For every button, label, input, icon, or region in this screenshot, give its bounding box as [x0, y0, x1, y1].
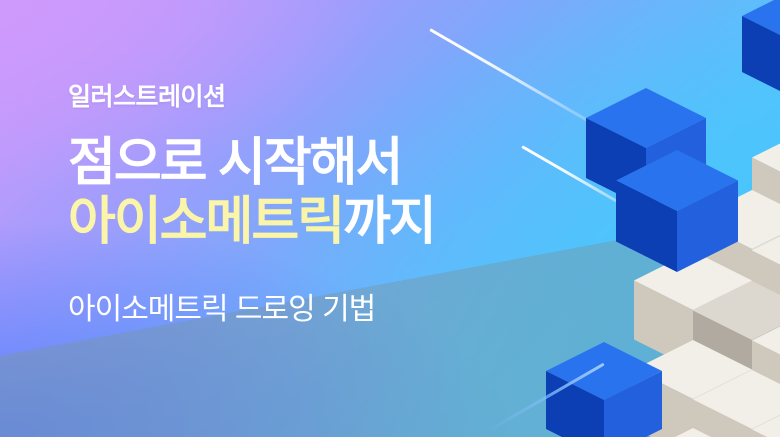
- headline-line-1: 점으로 시작해서: [68, 134, 588, 193]
- cube-face-top: [752, 400, 780, 437]
- banner-text-block: 일러스트레이션 점으로 시작해서 아이소메트릭까지 아이소메트릭 드로잉 기법: [68, 84, 588, 328]
- banner-caption: 아이소메트릭 드로잉 기법: [68, 292, 588, 328]
- cream-cube-r3-c2: [752, 400, 780, 437]
- blue-cube-top-right-edge: [742, 0, 780, 100]
- eyebrow-label: 일러스트레이션: [68, 84, 588, 112]
- page-title: 점으로 시작해서 아이소메트릭까지: [68, 134, 588, 253]
- promo-banner: 일러스트레이션 점으로 시작해서 아이소메트릭까지 아이소메트릭 드로잉 기법: [0, 0, 780, 437]
- headline-line-2: 아이소메트릭까지: [68, 193, 588, 252]
- headline-accent-text: 아이소메트릭: [68, 193, 343, 251]
- blue-cube-bottom-left: [546, 342, 662, 437]
- headline-line-2-suffix: 까지: [343, 193, 435, 251]
- blue-cube-middle: [616, 150, 738, 272]
